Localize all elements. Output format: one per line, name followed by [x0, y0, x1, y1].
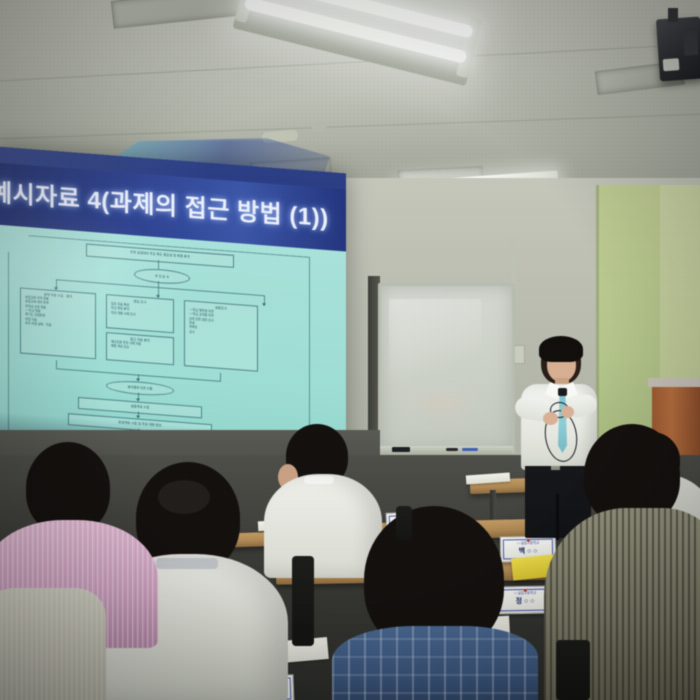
- flowchart-column-box: 설문조사 ○○학교 재학생 의견 ○○학교 교직원 의견 산학 진학 관련 인사…: [184, 300, 258, 372]
- flowchart-sub-box: 참고 자료 분석 재구조화 추진 사례 자료 체질 개선 요소: [106, 332, 174, 365]
- seminar-room-photo: 예시자료 4(과제의 접근 방법 (1)) 지역 실정대비 주요 제도 필요성 …: [0, 0, 700, 700]
- projector-mount: [668, 8, 678, 22]
- attendee: [316, 506, 546, 700]
- attendee-torso: [0, 588, 106, 700]
- whiteboard-reflection: [405, 385, 478, 421]
- whiteboard-tray: [374, 446, 513, 455]
- presenter-right-hand: [561, 406, 574, 418]
- flowchart-merge-label: 분석결과 의견 수렴: [128, 385, 153, 391]
- projector-vent: [683, 31, 699, 56]
- chair-back: [556, 640, 590, 700]
- black-marker[interactable]: [446, 448, 458, 451]
- whiteboard: [378, 283, 515, 454]
- presenter-tie-knot: [558, 388, 567, 396]
- attendee-collar: [304, 476, 334, 484]
- plaid-pattern: [332, 626, 538, 700]
- shirt-stripes: [0, 588, 106, 700]
- attendee-torso: [332, 626, 538, 700]
- flowchart-column-box: 면담 조사 입지 자료 특성 학교 현장 분석 학과 개편 사례 조사: [106, 294, 174, 333]
- attendee-collar: [156, 558, 218, 569]
- attendee: [0, 588, 106, 700]
- flowchart-column-box: 실태 자료 수집 · 분석 실업교육 지역 현황 실업교육 대외 환경 지역내 …: [20, 287, 96, 359]
- hair-highlight: [158, 480, 210, 514]
- ceiling-mounted-projector: [656, 17, 700, 82]
- chair-back: [396, 506, 412, 540]
- podium-top: [648, 378, 700, 387]
- chair-back: [292, 556, 314, 646]
- board-eraser[interactable]: [392, 447, 410, 452]
- projector-lens: [663, 58, 680, 71]
- presenter-hair: [539, 336, 583, 362]
- blue-marker[interactable]: [462, 448, 478, 451]
- flowchart-decision-label: 추 진 순 서: [155, 274, 169, 279]
